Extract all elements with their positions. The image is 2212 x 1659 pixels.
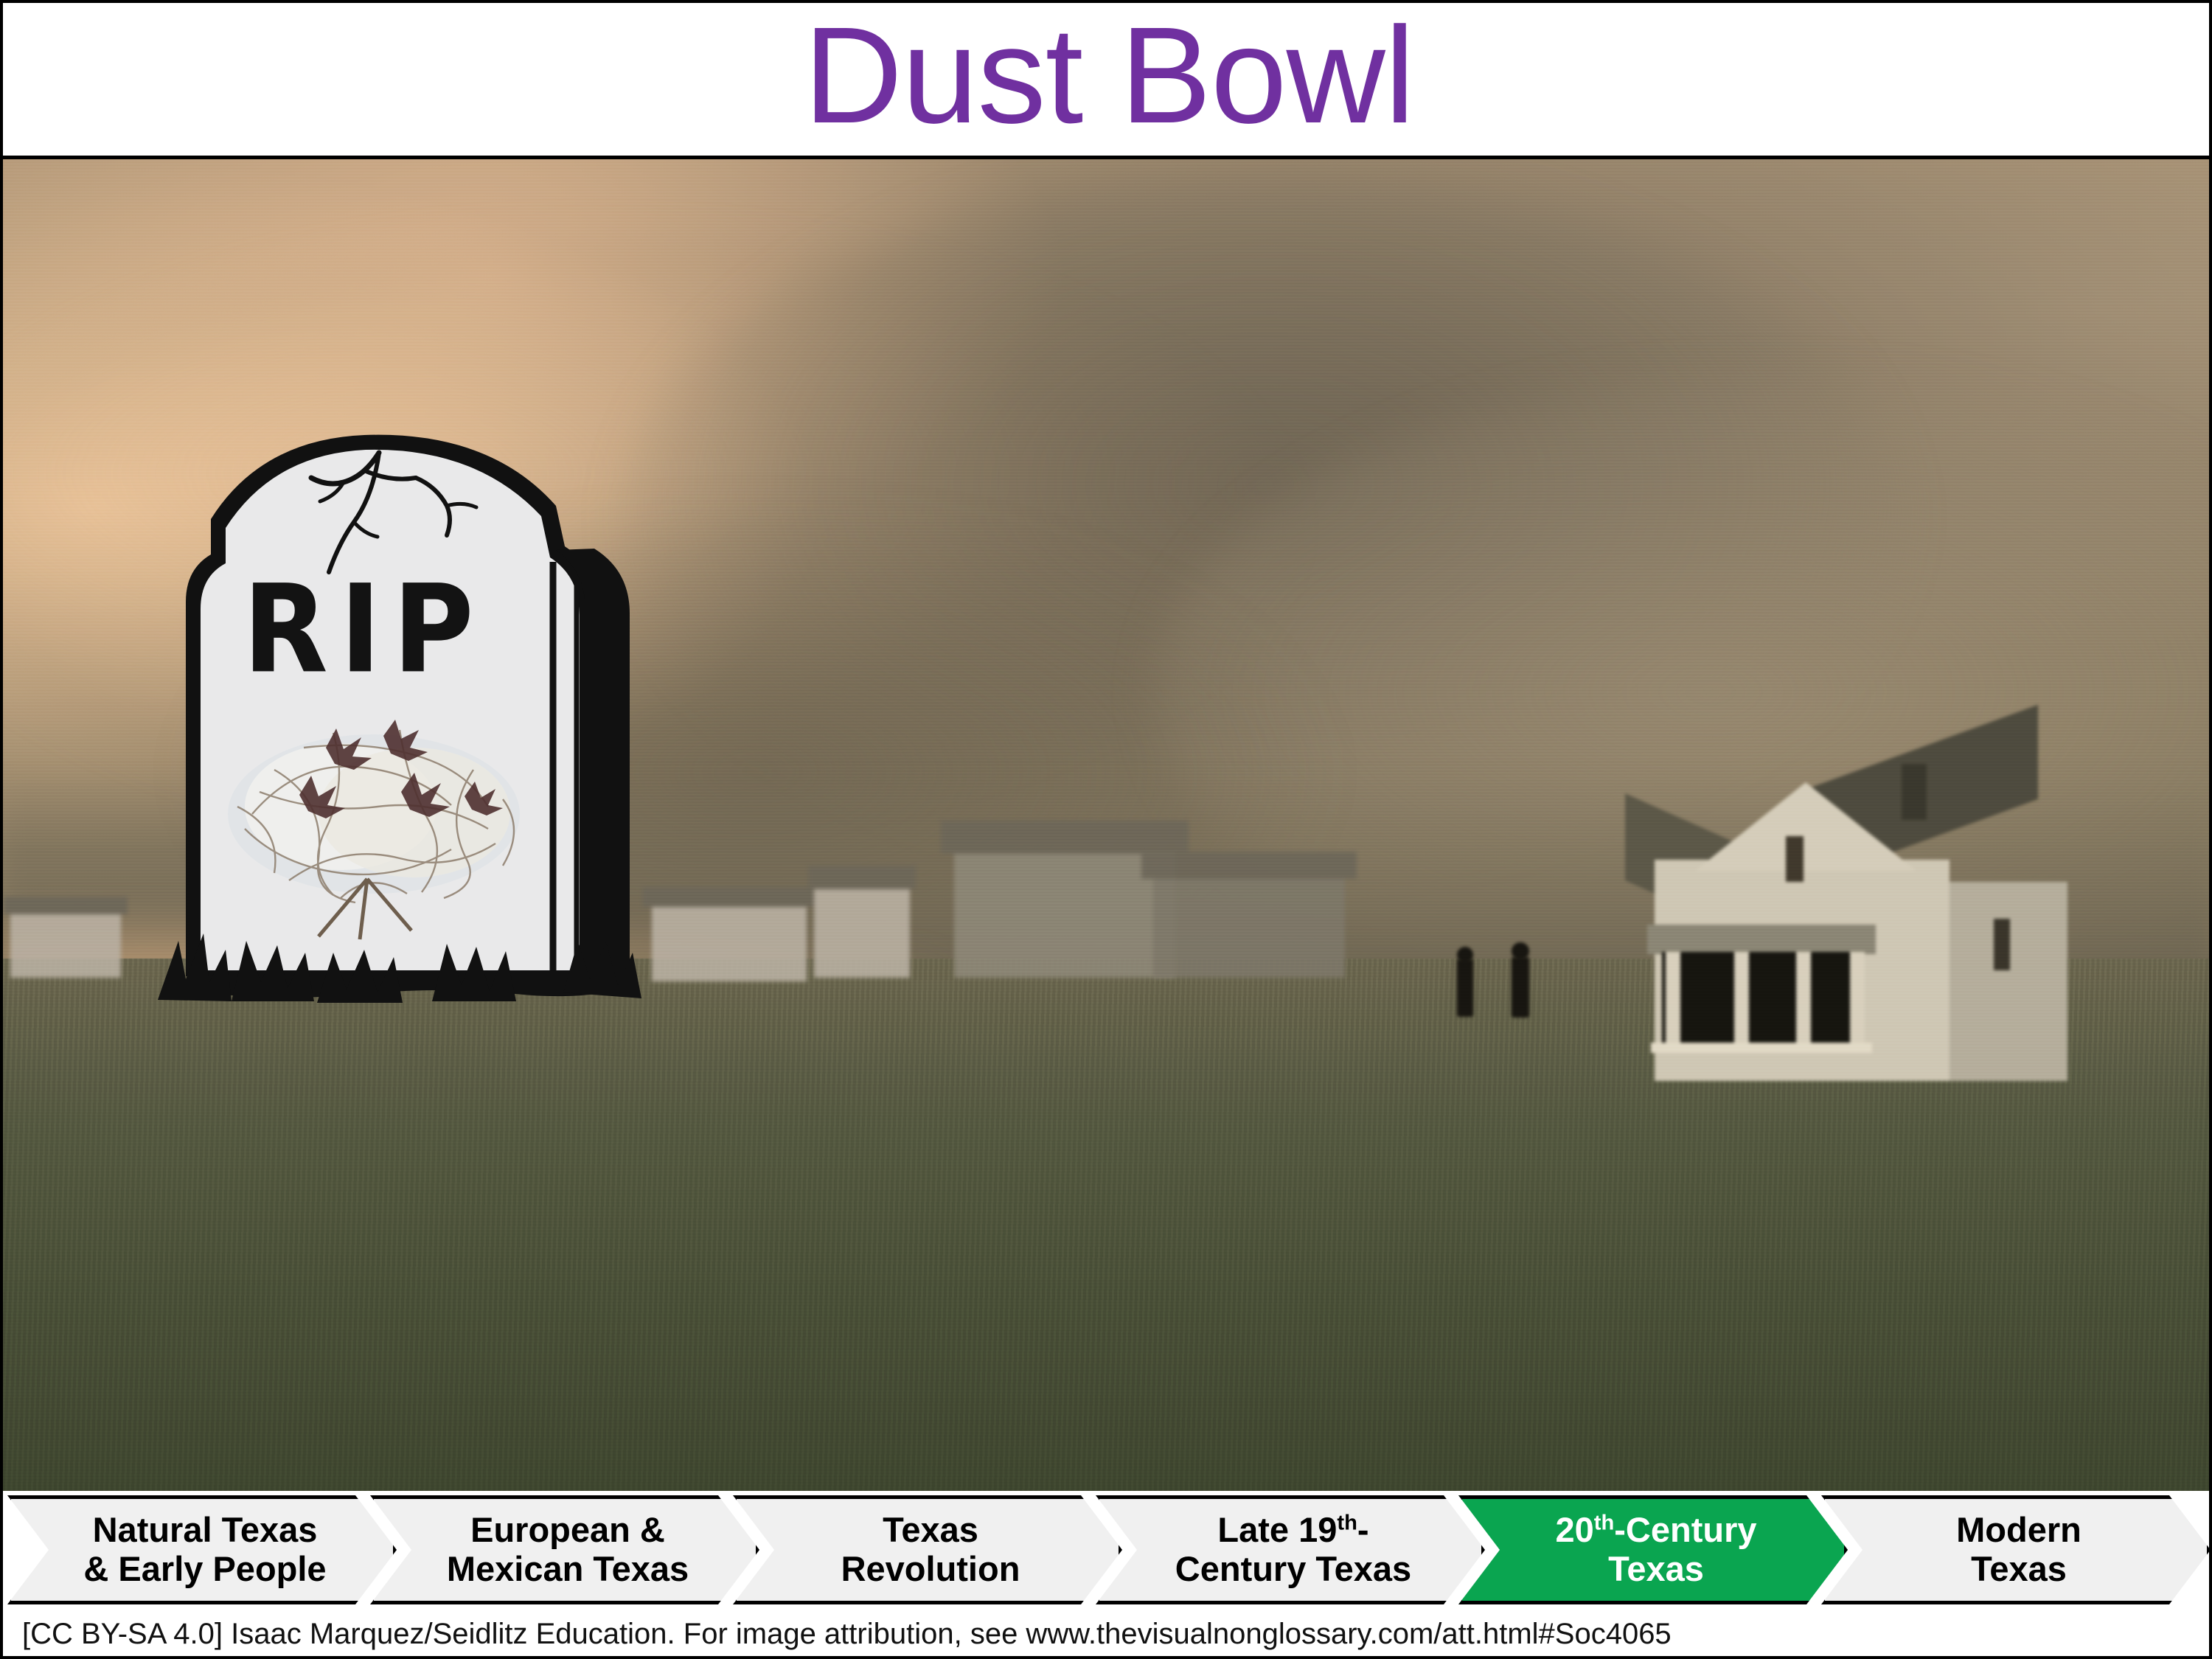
nav-item-label: 20th-Century Texas (1503, 1511, 1802, 1588)
nav-ordinal-suffix: th (1594, 1512, 1615, 1535)
nav-line-1: Natural Texas (93, 1510, 318, 1549)
nav-line-2: & Early People (83, 1549, 326, 1588)
nav-item-natural-texas[interactable]: Natural Texas & Early People (7, 1495, 397, 1604)
nav-line-2: Mexican Texas (447, 1549, 689, 1588)
nav-item-late-19th-century-texas[interactable]: Late 19th- Century Texas (1096, 1495, 1485, 1604)
nav-line-1: Late 19 (1217, 1510, 1337, 1549)
nav-item-label: Modern Texas (1905, 1511, 2127, 1588)
nav-line-1: European & (470, 1510, 665, 1549)
nav-line-1: 20 (1555, 1510, 1593, 1549)
nav-line-1-tail: -Century (1614, 1510, 1756, 1549)
footer-attribution: [CC BY-SA 4.0] Isaac Marquez/Seidlitz Ed… (3, 1609, 2212, 1659)
photo-stage: RIP (3, 159, 2212, 1491)
attribution-text: [CC BY-SA 4.0] Isaac Marquez/Seidlitz Ed… (22, 1618, 1672, 1651)
timeline-nav: Natural Texas & Early People European & … (3, 1491, 2212, 1609)
slide-header: Dust Bowl (3, 3, 2212, 159)
nav-line-1: Texas (883, 1510, 978, 1549)
dust-storm-photo: RIP (3, 159, 2212, 1491)
nav-item-20th-century-texas[interactable]: 20th-Century Texas (1458, 1495, 1848, 1604)
nav-item-label: Natural Texas & Early People (32, 1511, 372, 1588)
nav-item-label: European & Mexican Texas (395, 1511, 734, 1588)
nav-line-2: Texas (1971, 1549, 2067, 1588)
nav-item-modern-texas[interactable]: Modern Texas (1821, 1495, 2211, 1604)
nav-line-1: Modern (1956, 1510, 2081, 1549)
nav-item-texas-revolution[interactable]: Texas Revolution (733, 1495, 1122, 1604)
svg-text:RIP: RIP (243, 560, 485, 700)
nav-item-european-mexican-texas[interactable]: European & Mexican Texas (370, 1495, 759, 1604)
slide-root: Dust Bowl (0, 0, 2212, 1659)
nav-ordinal-suffix: th (1337, 1512, 1357, 1535)
nav-item-label: Late 19th- Century Texas (1124, 1511, 1457, 1588)
nav-line-2: Texas (1608, 1549, 1704, 1588)
nav-line-1-tail: - (1357, 1510, 1369, 1549)
nav-line-2: Century Texas (1175, 1549, 1411, 1588)
page-title: Dust Bowl (804, 11, 1414, 142)
nav-line-2: Revolution (841, 1549, 1020, 1588)
nav-item-label: Texas Revolution (790, 1511, 1066, 1588)
tombstone-graphic: RIP (143, 425, 659, 1015)
